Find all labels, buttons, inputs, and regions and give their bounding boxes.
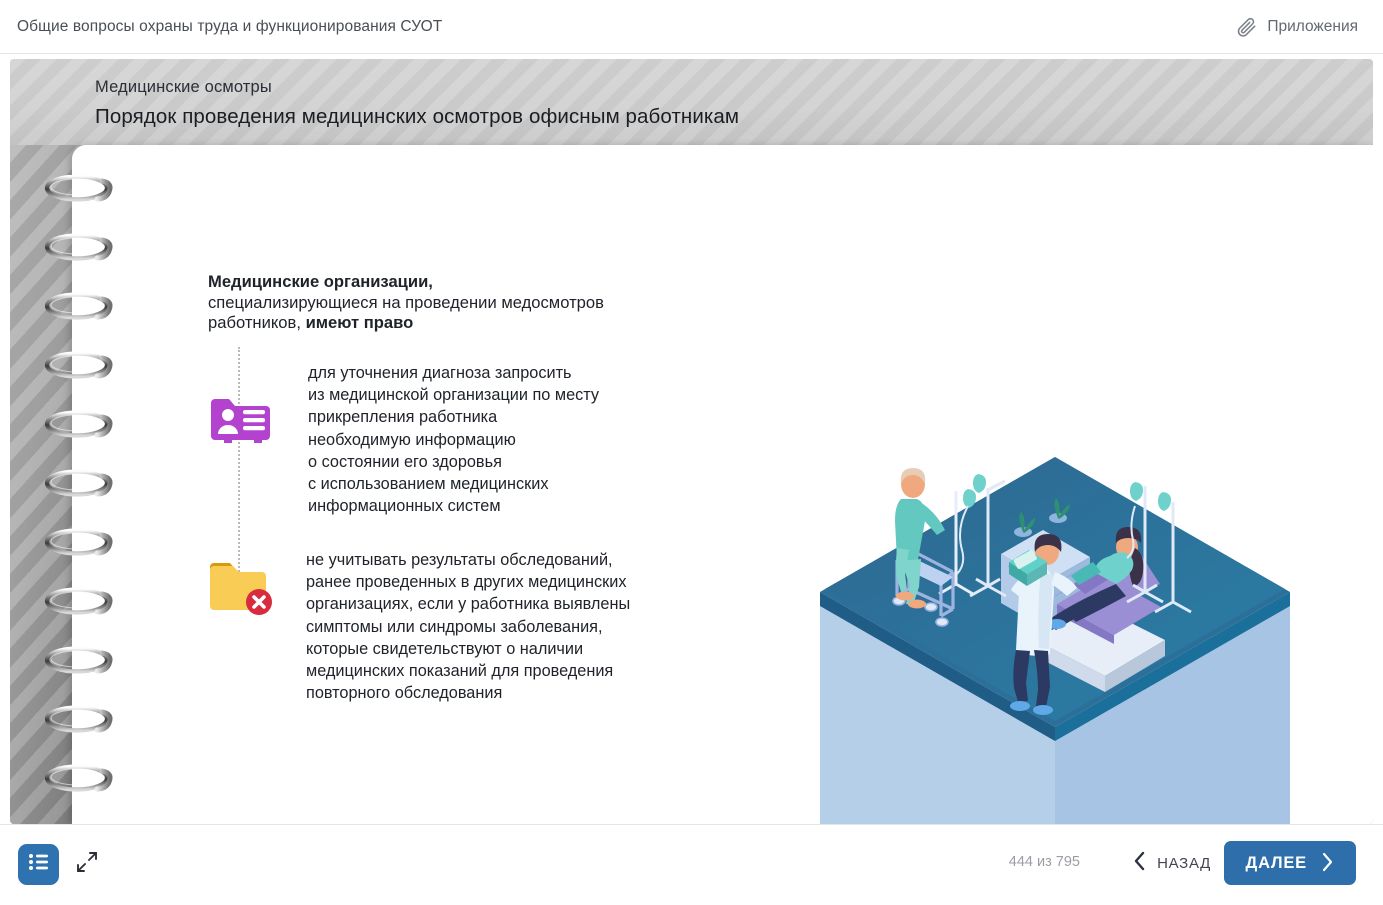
intro-paragraph: Медицинские организации, специализирующи…	[208, 272, 688, 334]
page-counter: 444 из 795	[1009, 854, 1080, 870]
footer-bar: 444 из 795 НАЗАД ДАЛЕЕ	[0, 824, 1383, 905]
paperclip-icon	[1236, 16, 1258, 38]
expand-arrows-icon	[76, 851, 98, 878]
spiral-rings-svg	[44, 175, 129, 824]
bullet-text-2: не учитывать результаты обследований, ра…	[306, 549, 630, 704]
course-title: Общие вопросы охраны труда и функциониро…	[17, 18, 442, 36]
bullet-item-2: не учитывать результаты обследований, ра…	[208, 549, 630, 704]
next-button[interactable]: ДАЛЕЕ	[1224, 841, 1356, 885]
contents-menu-button[interactable]	[18, 844, 59, 885]
attachments-label: Приложения	[1267, 18, 1358, 36]
top-bar: Общие вопросы охраны труда и функциониро…	[0, 0, 1383, 54]
bullet-item-1: для уточнения диагноза запросить из меди…	[208, 362, 599, 517]
back-button[interactable]: НАЗАД	[1133, 851, 1211, 876]
slide-title: Порядок проведения медицинских осмотров …	[95, 105, 739, 129]
folder-error-icon	[208, 557, 276, 624]
back-label: НАЗАД	[1157, 855, 1211, 872]
attachments-button[interactable]: Приложения	[1236, 16, 1358, 38]
fullscreen-button[interactable]	[74, 851, 100, 877]
slide-header-band	[10, 59, 1373, 145]
slide-kicker: Медицинские осмотры	[95, 78, 272, 97]
chevron-right-icon	[1321, 852, 1334, 875]
intro-emphasis: имеют право	[306, 313, 414, 332]
slide-area: Медицинские осмотры Порядок проведения м…	[10, 59, 1373, 824]
hospital-room-isometric-illustration	[805, 444, 1305, 824]
list-menu-icon	[28, 853, 50, 876]
presentation-viewer: Общие вопросы охраны труда и функциониро…	[0, 0, 1383, 905]
chevron-left-icon	[1133, 851, 1146, 876]
id-card-icon	[208, 394, 270, 455]
intro-lead: Медицинские организации,	[208, 272, 433, 291]
spiral-rings	[44, 175, 129, 824]
next-label: ДАЛЕЕ	[1246, 854, 1307, 873]
bullet-text-1: для уточнения диагноза запросить из меди…	[308, 362, 599, 517]
